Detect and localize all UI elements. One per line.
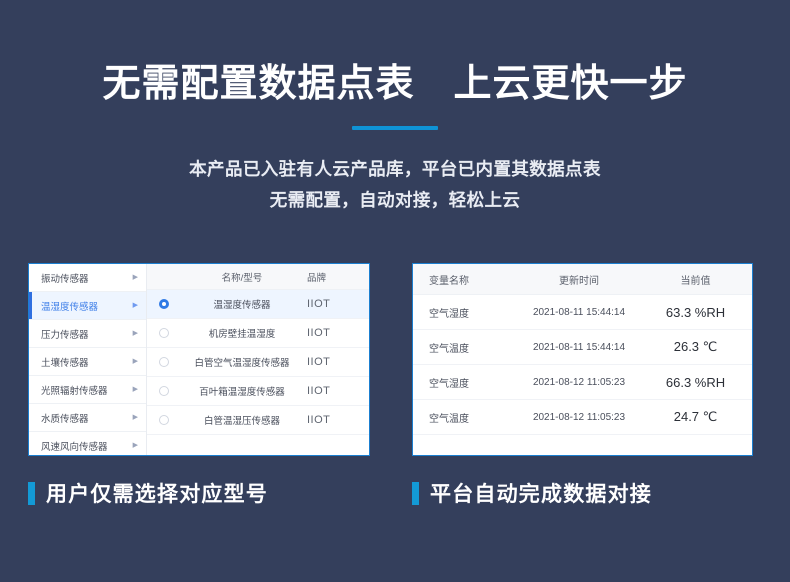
chevron-right-icon: ▶ (133, 442, 138, 449)
row-radio-cell[interactable] (147, 328, 181, 338)
sidebar-item-pressure[interactable]: 压力传感器 ▶ (29, 320, 146, 348)
row-brand: IIOT (303, 414, 369, 426)
sidebar-item-vibration[interactable]: 振动传感器 ▶ (29, 264, 146, 292)
chevron-right-icon: ▶ (133, 302, 138, 309)
table-row[interactable]: 温湿度传感器 IIOT (147, 290, 369, 319)
table-row: 空气温度 2021-08-11 15:44:14 26.3 ℃ (413, 330, 752, 365)
variable-value-table: 变量名称 更新时间 当前值 空气湿度 2021-08-11 15:44:14 6… (413, 264, 752, 455)
table-row[interactable]: 白管温湿压传感器 IIOT (147, 406, 369, 435)
row-radio-cell[interactable] (147, 415, 181, 425)
row-variable-name: 空气湿度 (413, 375, 509, 390)
table-row: 空气湿度 2021-08-11 15:44:14 63.3 %RH (413, 295, 752, 330)
row-update-time: 2021-08-11 15:44:14 (509, 307, 649, 318)
column-header-variable: 变量名称 (413, 272, 509, 287)
table-row[interactable]: 白管空气温湿度传感器 IIOT (147, 348, 369, 377)
accent-bar-icon (28, 482, 35, 505)
row-variable-name: 空气湿度 (413, 305, 509, 320)
column-header-name: 名称/型号 (181, 270, 303, 284)
table-row[interactable]: 机房壁挂温湿度 IIOT (147, 319, 369, 348)
sidebar-item-label: 风速风向传感器 (41, 439, 133, 453)
data-points-panel: 变量名称 更新时间 当前值 空气湿度 2021-08-11 15:44:14 6… (412, 263, 753, 456)
sidebar-item-label: 光照辐射传感器 (41, 383, 133, 397)
title-underline-accent (352, 126, 438, 130)
row-current-value: 26.3 ℃ (649, 339, 752, 355)
radio-selected-icon[interactable] (159, 299, 169, 309)
product-selection-panel: 振动传感器 ▶ 温湿度传感器 ▶ 压力传感器 ▶ 土壤传感器 ▶ 光照辐射传感器 (28, 263, 370, 456)
caption-right: 平台自动完成数据对接 (412, 478, 652, 508)
row-brand: IIOT (303, 385, 369, 397)
row-current-value: 66.3 %RH (649, 375, 752, 390)
row-update-time: 2021-08-12 11:05:23 (509, 377, 649, 388)
sidebar-item-wind[interactable]: 风速风向传感器 ▶ (29, 432, 146, 456)
sidebar-item-label: 温湿度传感器 (41, 299, 133, 313)
column-header-brand: 品牌 (303, 270, 369, 284)
column-header-value: 当前值 (649, 272, 752, 287)
caption-left-text: 用户仅需选择对应型号 (46, 478, 268, 508)
row-radio-cell[interactable] (147, 357, 181, 367)
row-brand: IIOT (303, 327, 369, 339)
sidebar-item-label: 压力传感器 (41, 327, 133, 341)
row-radio-cell[interactable] (147, 386, 181, 396)
chevron-right-icon: ▶ (133, 386, 138, 393)
sidebar-item-label: 土壤传感器 (41, 355, 133, 369)
row-update-time: 2021-08-12 11:05:23 (509, 412, 649, 423)
captions-row: 用户仅需选择对应型号 平台自动完成数据对接 (0, 478, 790, 512)
radio-unselected-icon[interactable] (159, 328, 169, 338)
row-model-name: 百叶箱温湿度传感器 (181, 384, 303, 398)
sidebar-item-water-quality[interactable]: 水质传感器 ▶ (29, 404, 146, 432)
sensor-category-sidebar: 振动传感器 ▶ 温湿度传感器 ▶ 压力传感器 ▶ 土壤传感器 ▶ 光照辐射传感器 (29, 264, 147, 455)
row-model-name: 白管空气温湿度传感器 (181, 355, 303, 369)
chevron-right-icon: ▶ (133, 330, 138, 337)
page-subtitle: 本产品已入驻有人云产品库，平台已内置其数据点表 无需配置，自动对接，轻松上云 (0, 154, 790, 216)
caption-right-text: 平台自动完成数据对接 (430, 478, 652, 508)
table-row[interactable]: 百叶箱温湿度传感器 IIOT (147, 377, 369, 406)
sidebar-item-light-radiation[interactable]: 光照辐射传感器 ▶ (29, 376, 146, 404)
chevron-right-icon: ▶ (133, 274, 138, 281)
radio-unselected-icon[interactable] (159, 386, 169, 396)
row-variable-name: 空气温度 (413, 340, 509, 355)
row-current-value: 63.3 %RH (649, 305, 752, 320)
column-header-time: 更新时间 (509, 272, 649, 287)
subtitle-line-2: 无需配置，自动对接，轻松上云 (0, 185, 790, 216)
table-row: 空气湿度 2021-08-12 11:05:23 66.3 %RH (413, 365, 752, 400)
product-model-table: 名称/型号 品牌 温湿度传感器 IIOT 机房壁挂温湿度 IIOT 白管空气温湿… (147, 264, 369, 455)
row-update-time: 2021-08-11 15:44:14 (509, 342, 649, 353)
row-current-value: 24.7 ℃ (649, 409, 752, 425)
sidebar-item-temp-humidity[interactable]: 温湿度传感器 ▶ (29, 292, 146, 320)
radio-unselected-icon[interactable] (159, 357, 169, 367)
chevron-right-icon: ▶ (133, 358, 138, 365)
subtitle-line-1: 本产品已入驻有人云产品库，平台已内置其数据点表 (0, 154, 790, 185)
row-radio-cell[interactable] (147, 299, 181, 309)
caption-left: 用户仅需选择对应型号 (28, 478, 268, 508)
table-header-row: 名称/型号 品牌 (147, 264, 369, 290)
chevron-right-icon: ▶ (133, 414, 138, 421)
sidebar-item-label: 水质传感器 (41, 411, 133, 425)
row-model-name: 白管温湿压传感器 (181, 413, 303, 427)
sidebar-item-soil[interactable]: 土壤传感器 ▶ (29, 348, 146, 376)
row-brand: IIOT (303, 356, 369, 368)
radio-unselected-icon[interactable] (159, 415, 169, 425)
row-model-name: 机房壁挂温湿度 (181, 326, 303, 340)
accent-bar-icon (412, 482, 419, 505)
page-title: 无需配置数据点表 上云更快一步 (0, 0, 790, 108)
row-variable-name: 空气温度 (413, 410, 509, 425)
table-header-row: 变量名称 更新时间 当前值 (413, 264, 752, 295)
row-brand: IIOT (303, 298, 369, 310)
sidebar-item-label: 振动传感器 (41, 271, 133, 285)
table-row: 空气温度 2021-08-12 11:05:23 24.7 ℃ (413, 400, 752, 435)
row-model-name: 温湿度传感器 (181, 297, 303, 311)
panels-row: 振动传感器 ▶ 温湿度传感器 ▶ 压力传感器 ▶ 土壤传感器 ▶ 光照辐射传感器 (0, 263, 790, 456)
